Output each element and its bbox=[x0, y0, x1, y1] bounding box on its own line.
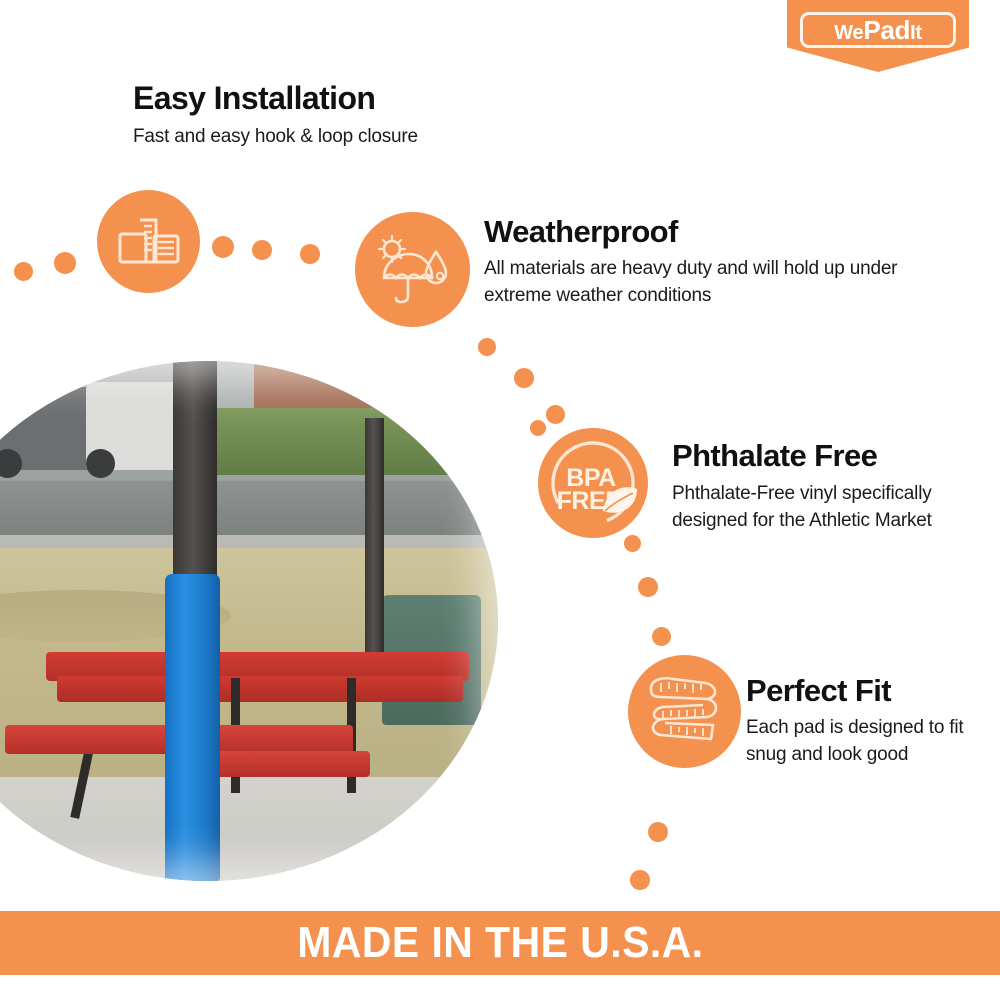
made-in-usa-text: MADE IN THE U.S.A. bbox=[297, 918, 703, 968]
decorative-dot bbox=[300, 244, 320, 264]
feature-body-phthalate-free: Phthalate-Free vinyl specifically design… bbox=[672, 481, 942, 535]
building-install-icon bbox=[97, 190, 200, 293]
logo-text-pad: Pad bbox=[863, 15, 910, 45]
infographic-page: WePadIt Easy Installation Fast and easy … bbox=[0, 0, 1000, 987]
decorative-dot bbox=[664, 750, 680, 766]
feature-title-perfect-fit: Perfect Fit bbox=[746, 673, 891, 709]
decorative-dot bbox=[630, 870, 650, 890]
measuring-tape-icon bbox=[628, 655, 741, 768]
decorative-dot bbox=[652, 627, 671, 646]
decorative-dot bbox=[252, 240, 272, 260]
product-photo bbox=[0, 361, 498, 881]
made-in-usa-banner: MADE IN THE U.S.A. bbox=[0, 911, 1000, 975]
feature-body-easy-installation: Fast and easy hook & loop closure bbox=[133, 124, 553, 151]
feature-title-phthalate-free: Phthalate Free bbox=[672, 438, 877, 474]
feature-body-perfect-fit: Each pad is designed to fit snug and loo… bbox=[746, 715, 981, 769]
feature-body-weatherproof: All materials are heavy duty and will ho… bbox=[484, 256, 914, 310]
logo-text-we: We bbox=[834, 22, 863, 44]
bpa-free-leaf-icon: BPA FREE bbox=[538, 428, 648, 538]
decorative-dot bbox=[638, 577, 658, 597]
decorative-dot bbox=[648, 822, 668, 842]
brand-logo[interactable]: WePadIt bbox=[787, 0, 969, 72]
logo-text-it: It bbox=[910, 22, 922, 44]
logo-outline-box: WePadIt bbox=[800, 12, 956, 48]
feature-title-weatherproof: Weatherproof bbox=[484, 214, 678, 250]
decorative-dot bbox=[212, 236, 234, 258]
decorative-dot bbox=[54, 252, 76, 274]
feature-title-easy-installation: Easy Installation bbox=[133, 80, 375, 117]
sun-umbrella-raindrop-icon bbox=[355, 212, 470, 327]
decorative-dot bbox=[478, 338, 496, 356]
decorative-dot bbox=[624, 535, 641, 552]
decorative-dot bbox=[14, 262, 33, 281]
decorative-dot bbox=[514, 368, 534, 388]
decorative-dot bbox=[546, 405, 565, 424]
